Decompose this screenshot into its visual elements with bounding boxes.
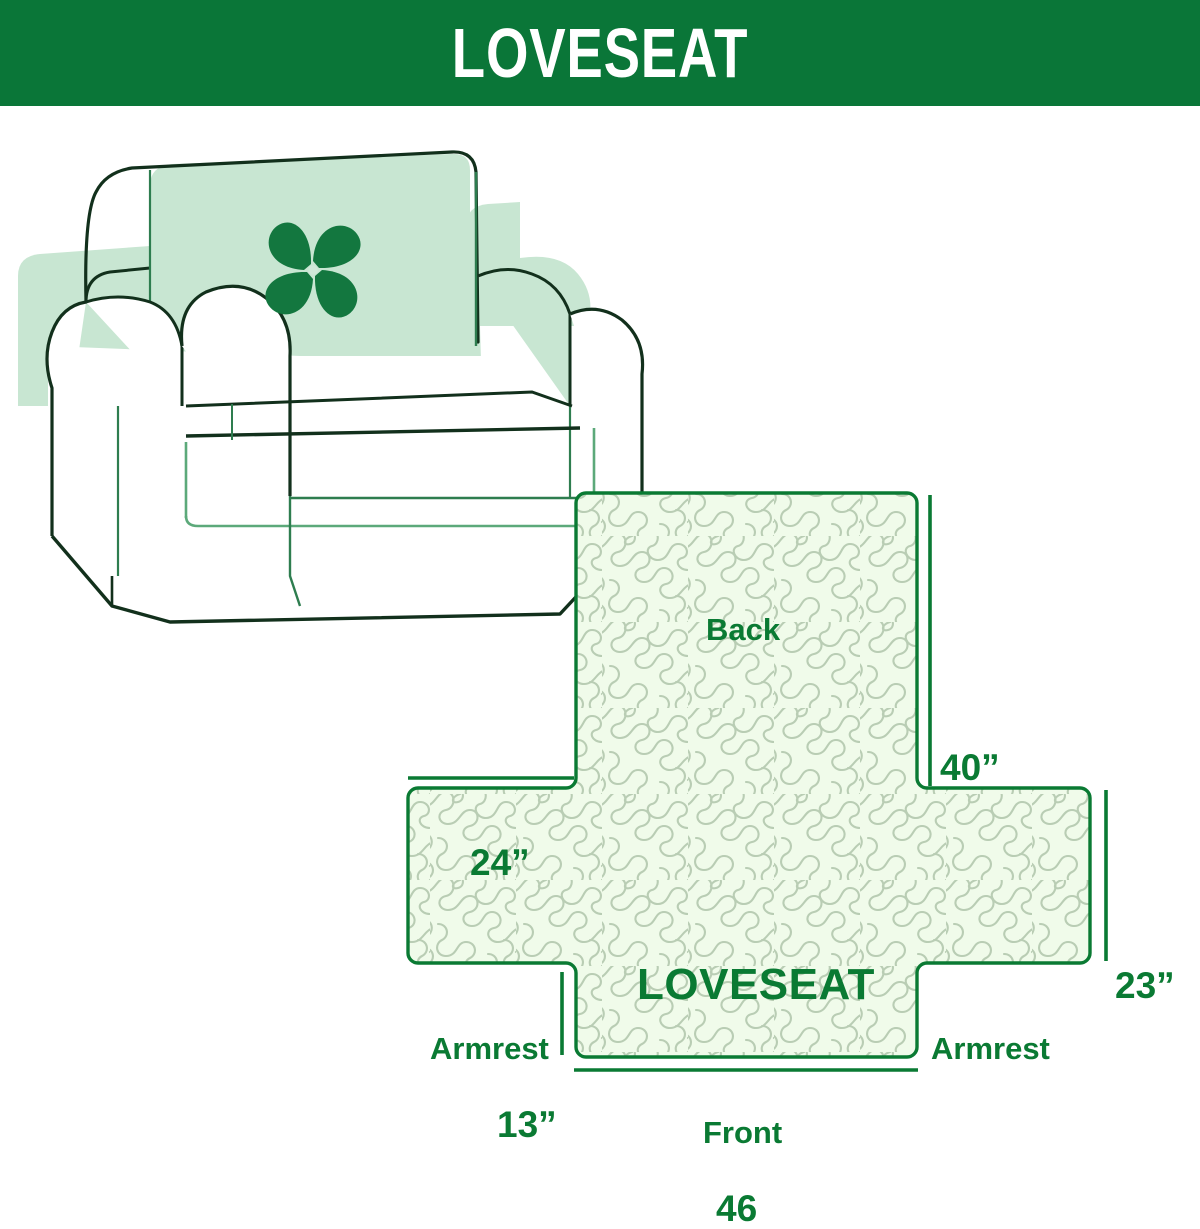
dimension-label-24: 24” (470, 844, 530, 881)
dimension-label-40: 40” (940, 749, 1000, 786)
diagram-center-label: LOVESEAT (637, 963, 875, 1007)
panel-label-front: Front (703, 1117, 782, 1148)
dimension-label-23: 23” (1115, 967, 1175, 1004)
panel-label-back: Back (706, 614, 780, 645)
panel-label-armrest-right: Armrest (931, 1033, 1050, 1064)
diagram-stage: Back Front Armrest Armrest LOVESEAT 40” … (0, 106, 1200, 1200)
dimension-label-13: 13” (497, 1106, 557, 1143)
page-title: LOVESEAT (452, 18, 748, 88)
dimension-label-46: 46 (716, 1190, 757, 1227)
header-banner: LOVESEAT (0, 0, 1200, 106)
panel-label-armrest-left: Armrest (430, 1033, 549, 1064)
